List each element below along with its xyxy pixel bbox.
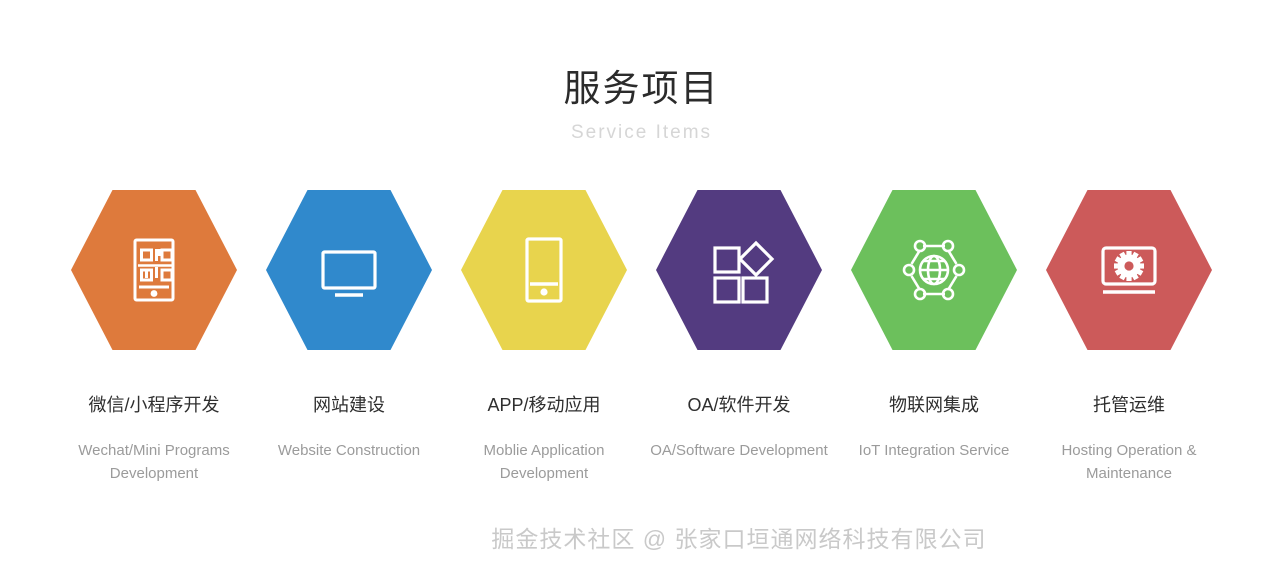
hex-wrap-hosting[interactable] [1046, 190, 1212, 350]
laptop-gear-icon [1093, 234, 1165, 306]
hex-wrap-oa-software[interactable] [656, 190, 822, 350]
service-label-cn: 网站建设 [313, 393, 385, 417]
phone-qrcode-icon [118, 234, 190, 306]
service-label-en: OA/Software Development [650, 439, 828, 462]
service-item-mobile-app[interactable]: APP/移动应用 Moblie Application Development [447, 190, 642, 486]
monitor-icon [313, 234, 385, 306]
service-label-en: Website Construction [278, 439, 420, 462]
service-item-iot[interactable]: 物联网集成 IoT Integration Service [837, 190, 1032, 463]
service-label-en: Hosting Operation & Maintenance [1039, 439, 1219, 486]
service-label-cn: 托管运维 [1093, 393, 1165, 417]
service-label-en: Wechat/Mini Programs Development [64, 439, 244, 486]
iot-globe-network-icon [898, 234, 970, 306]
service-items-row: 微信/小程序开发 Wechat/Mini Programs Developmen… [0, 190, 1283, 486]
hex-wrap-mobile-app[interactable] [461, 190, 627, 350]
watermark-text: 掘金技术社区 @ 张家口垣通网络科技有限公司 [0, 520, 1283, 554]
modules-squares-diamond-icon [703, 234, 775, 306]
service-label-cn: 微信/小程序开发 [88, 393, 219, 417]
service-item-hosting[interactable]: 托管运维 Hosting Operation & Maintenance [1032, 190, 1227, 486]
page-header: 服务项目 Service Items [0, 0, 1283, 146]
page-subtitle: Service Items [0, 121, 1283, 146]
smartphone-icon [508, 234, 580, 306]
service-label-cn: 物联网集成 [889, 393, 979, 417]
service-label-cn: APP/移动应用 [487, 393, 600, 417]
service-label-en: IoT Integration Service [859, 439, 1010, 462]
hex-wrap-website[interactable] [266, 190, 432, 350]
hex-wrap-wechat[interactable] [71, 190, 237, 350]
service-item-oa-software[interactable]: OA/软件开发 OA/Software Development [642, 190, 837, 463]
hex-wrap-iot[interactable] [851, 190, 1017, 350]
page-title: 服务项目 [0, 66, 1283, 112]
service-item-wechat[interactable]: 微信/小程序开发 Wechat/Mini Programs Developmen… [57, 190, 252, 486]
service-item-website[interactable]: 网站建设 Website Construction [252, 190, 447, 463]
service-label-cn: OA/软件开发 [687, 393, 790, 417]
service-label-en: Moblie Application Development [454, 439, 634, 486]
